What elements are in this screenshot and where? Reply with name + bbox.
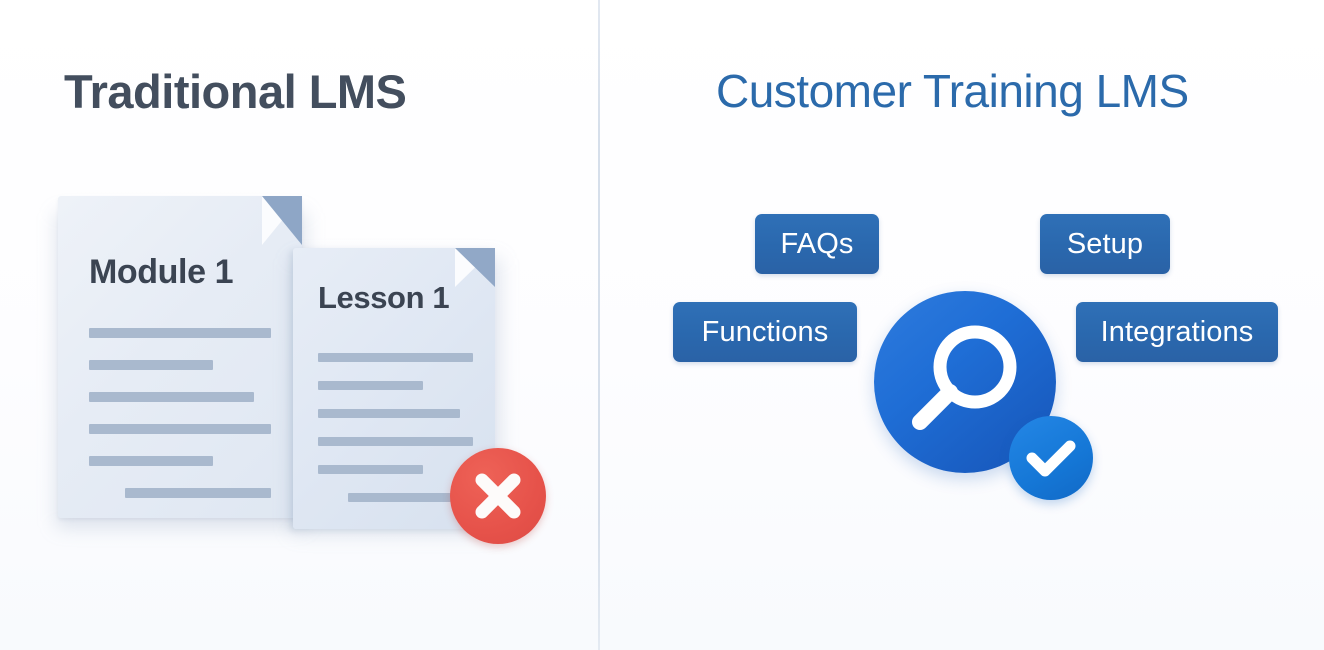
text-line xyxy=(318,353,473,362)
feature-chip-faqs[interactable]: FAQs xyxy=(755,214,879,274)
text-line xyxy=(89,360,213,370)
text-line xyxy=(89,424,271,434)
module-card-text-lines xyxy=(89,328,302,520)
text-line xyxy=(89,392,254,402)
text-line xyxy=(318,409,460,418)
text-line xyxy=(125,488,271,498)
lesson-card-title: Lesson 1 xyxy=(318,280,449,316)
module-card-title: Module 1 xyxy=(89,253,233,292)
close-x-icon xyxy=(450,448,546,544)
traditional-lms-title: Traditional LMS xyxy=(64,64,406,119)
customer-training-lms-title: Customer Training LMS xyxy=(716,64,1189,118)
text-line xyxy=(318,465,423,474)
folded-corner-icon xyxy=(455,248,495,287)
document-card-module: Module 1 xyxy=(58,196,302,518)
text-line xyxy=(318,437,473,446)
feature-chip-integrations[interactable]: Integrations xyxy=(1076,302,1278,362)
check-circle-icon xyxy=(1009,416,1093,500)
text-line xyxy=(89,456,213,466)
infographic-canvas: Traditional LMS Module 1 Lesson 1 xyxy=(0,0,1324,650)
feature-chip-functions[interactable]: Functions xyxy=(673,302,857,362)
text-line xyxy=(89,328,271,338)
text-line xyxy=(318,381,423,390)
feature-chip-setup[interactable]: Setup xyxy=(1040,214,1170,274)
folded-corner-icon xyxy=(262,196,302,245)
traditional-lms-panel: Traditional LMS Module 1 Lesson 1 xyxy=(0,0,598,650)
